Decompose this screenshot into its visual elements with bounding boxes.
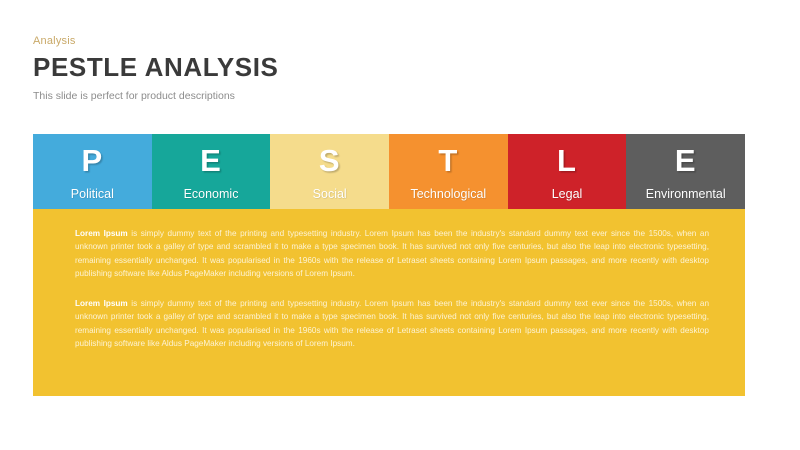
pestle-label: Environmental: [626, 187, 745, 202]
pestle-column-legal[interactable]: LLegal: [508, 134, 627, 209]
pestle-label: Technological: [389, 187, 508, 202]
pestle-panel: PPoliticalEEconomicSSocialTTechnological…: [33, 134, 745, 396]
paragraph-text: is simply dummy text of the printing and…: [75, 299, 709, 348]
pestle-letter: S: [270, 144, 389, 178]
pestle-label: Economic: [152, 187, 271, 202]
pestle-label: Legal: [508, 187, 627, 202]
pestle-letter: T: [389, 144, 508, 178]
paragraph-text: is simply dummy text of the printing and…: [75, 229, 709, 278]
page-subtitle: This slide is perfect for product descri…: [33, 89, 633, 103]
page-title: PESTLE ANALYSIS: [33, 53, 633, 82]
pestle-column-environmental[interactable]: EEnvironmental: [626, 134, 745, 209]
pestle-letter: P: [33, 144, 152, 178]
pestle-label: Social: [270, 187, 389, 202]
pestle-column-technological[interactable]: TTechnological: [389, 134, 508, 209]
pestle-label: Political: [33, 187, 152, 202]
description-paragraph: Lorem Ipsum is simply dummy text of the …: [75, 297, 709, 350]
pestle-letter: E: [626, 144, 745, 178]
slide-header: Analysis PESTLE ANALYSIS This slide is p…: [33, 34, 633, 103]
paragraph-lead: Lorem Ipsum: [75, 299, 128, 308]
pestle-description-panel: Lorem Ipsum is simply dummy text of the …: [33, 209, 745, 396]
description-paragraph: Lorem Ipsum is simply dummy text of the …: [75, 227, 709, 280]
paragraph-lead: Lorem Ipsum: [75, 229, 128, 238]
pestle-column-row: PPoliticalEEconomicSSocialTTechnological…: [33, 134, 745, 209]
pestle-column-political[interactable]: PPolitical: [33, 134, 152, 209]
pestle-column-economic[interactable]: EEconomic: [152, 134, 271, 209]
eyebrow-label: Analysis: [33, 34, 633, 48]
pestle-column-social[interactable]: SSocial: [270, 134, 389, 209]
pestle-letter: E: [152, 144, 271, 178]
pestle-letter: L: [508, 144, 627, 178]
